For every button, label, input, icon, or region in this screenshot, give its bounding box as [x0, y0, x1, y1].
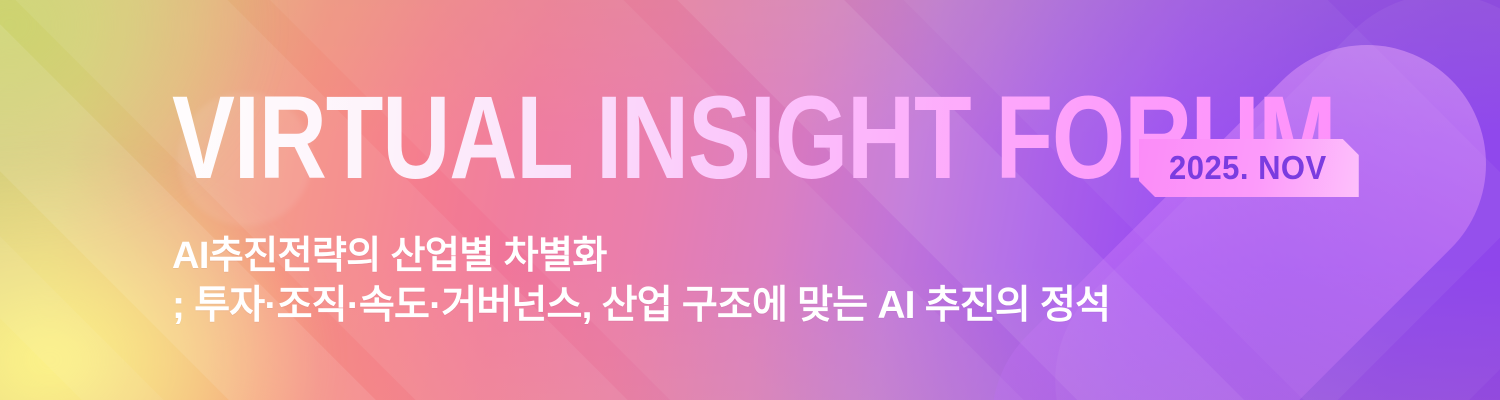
virtual-insight-forum-banner: VIRTUAL INSIGHT FORUM 2025. NOV AI추진전략의 …	[0, 0, 1500, 400]
banner-content: VIRTUAL INSIGHT FORUM 2025. NOV AI추진전략의 …	[0, 0, 1500, 400]
subtitle-block: AI추진전략의 산업별 차별화 ; 투자·조직·속도·거버넌스, 산업 구조에 …	[172, 232, 1110, 332]
date-badge-label: 2025. NOV	[1169, 149, 1327, 187]
subtitle-line-2: ; 투자·조직·속도·거버넌스, 산업 구조에 맞는 AI 추진의 정석	[172, 281, 1110, 332]
date-badge: 2025. NOV	[1139, 139, 1359, 197]
subtitle-line-1: AI추진전략의 산업별 차별화	[172, 232, 1110, 281]
